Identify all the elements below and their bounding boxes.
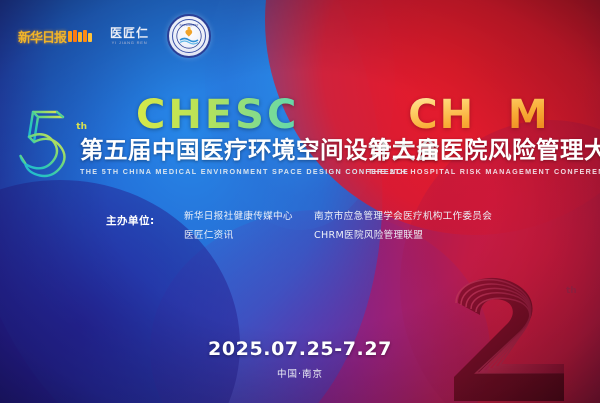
xinhua-daily-logo-text: 新华日报 [18, 27, 66, 46]
chrm-letter-c: C [408, 92, 439, 138]
xinhua-daily-logo: 新华日报 [18, 27, 92, 46]
yijiangren-logo: 医匠仁 YI JIANG REN [110, 27, 149, 45]
organizer-item: 南京市应急管理学会医疗机构工作委员会 [314, 212, 484, 222]
event-date-block: 2025.07.25-7.27 中国·南京 [0, 338, 600, 380]
right-conference-title-block: CHRM 第二届医院风险管理大会 THE 2TH HOSPITAL RISK M… [368, 96, 590, 176]
emblem-icon: 南京市应急管理学会 [176, 23, 202, 49]
ordinal-suffix-th: th [76, 122, 87, 132]
yijiangren-logo-cn: 医匠仁 [110, 27, 149, 39]
chrm-letter-m: M [508, 92, 550, 138]
organizers-block: 主办单位: 新华日报社健康传媒中心 医匠仁资讯 南京市应急管理学会医疗机构工作委… [106, 212, 484, 240]
event-date: 2025.07.25-7.27 [0, 338, 600, 360]
event-location: 中国·南京 [0, 366, 600, 380]
organizer-item: 新华日报社健康传媒中心 [184, 212, 314, 222]
organizers-column-1: 新华日报社健康传媒中心 医匠仁资讯 [184, 212, 314, 240]
organizer-item: CHRM医院风险管理联盟 [314, 231, 484, 241]
yijiangren-logo-en: YI JIANG REN [110, 41, 149, 45]
right-title-cn: 第二届医院风险管理大会 [368, 137, 590, 163]
right-title-en: THE 2TH HOSPITAL RISK MANAGEMENT CONFERE… [368, 167, 590, 176]
chrm-letter-r: R [475, 96, 508, 134]
chrm-letter-h: H [440, 92, 475, 138]
sponsor-logo-bar: 新华日报 医匠仁 YI JIANG REN [18, 14, 211, 58]
svg-text:th: th [566, 286, 577, 296]
association-emblem-logo: 南京市应急管理学会 [167, 14, 211, 58]
chrm-acronym: CHRM [368, 96, 590, 134]
organizers-column-2: 南京市应急管理学会医疗机构工作委员会 CHRM医院风险管理联盟 [314, 212, 484, 240]
xinhua-daily-logo-bars [68, 30, 92, 42]
conference-poster: th 新华日报 医匠仁 YI JIANG REN [0, 0, 600, 403]
ordinal-five-graphic: th [16, 108, 78, 186]
organizer-item: 医匠仁资讯 [184, 231, 314, 241]
organizers-label: 主办单位: [106, 212, 184, 228]
